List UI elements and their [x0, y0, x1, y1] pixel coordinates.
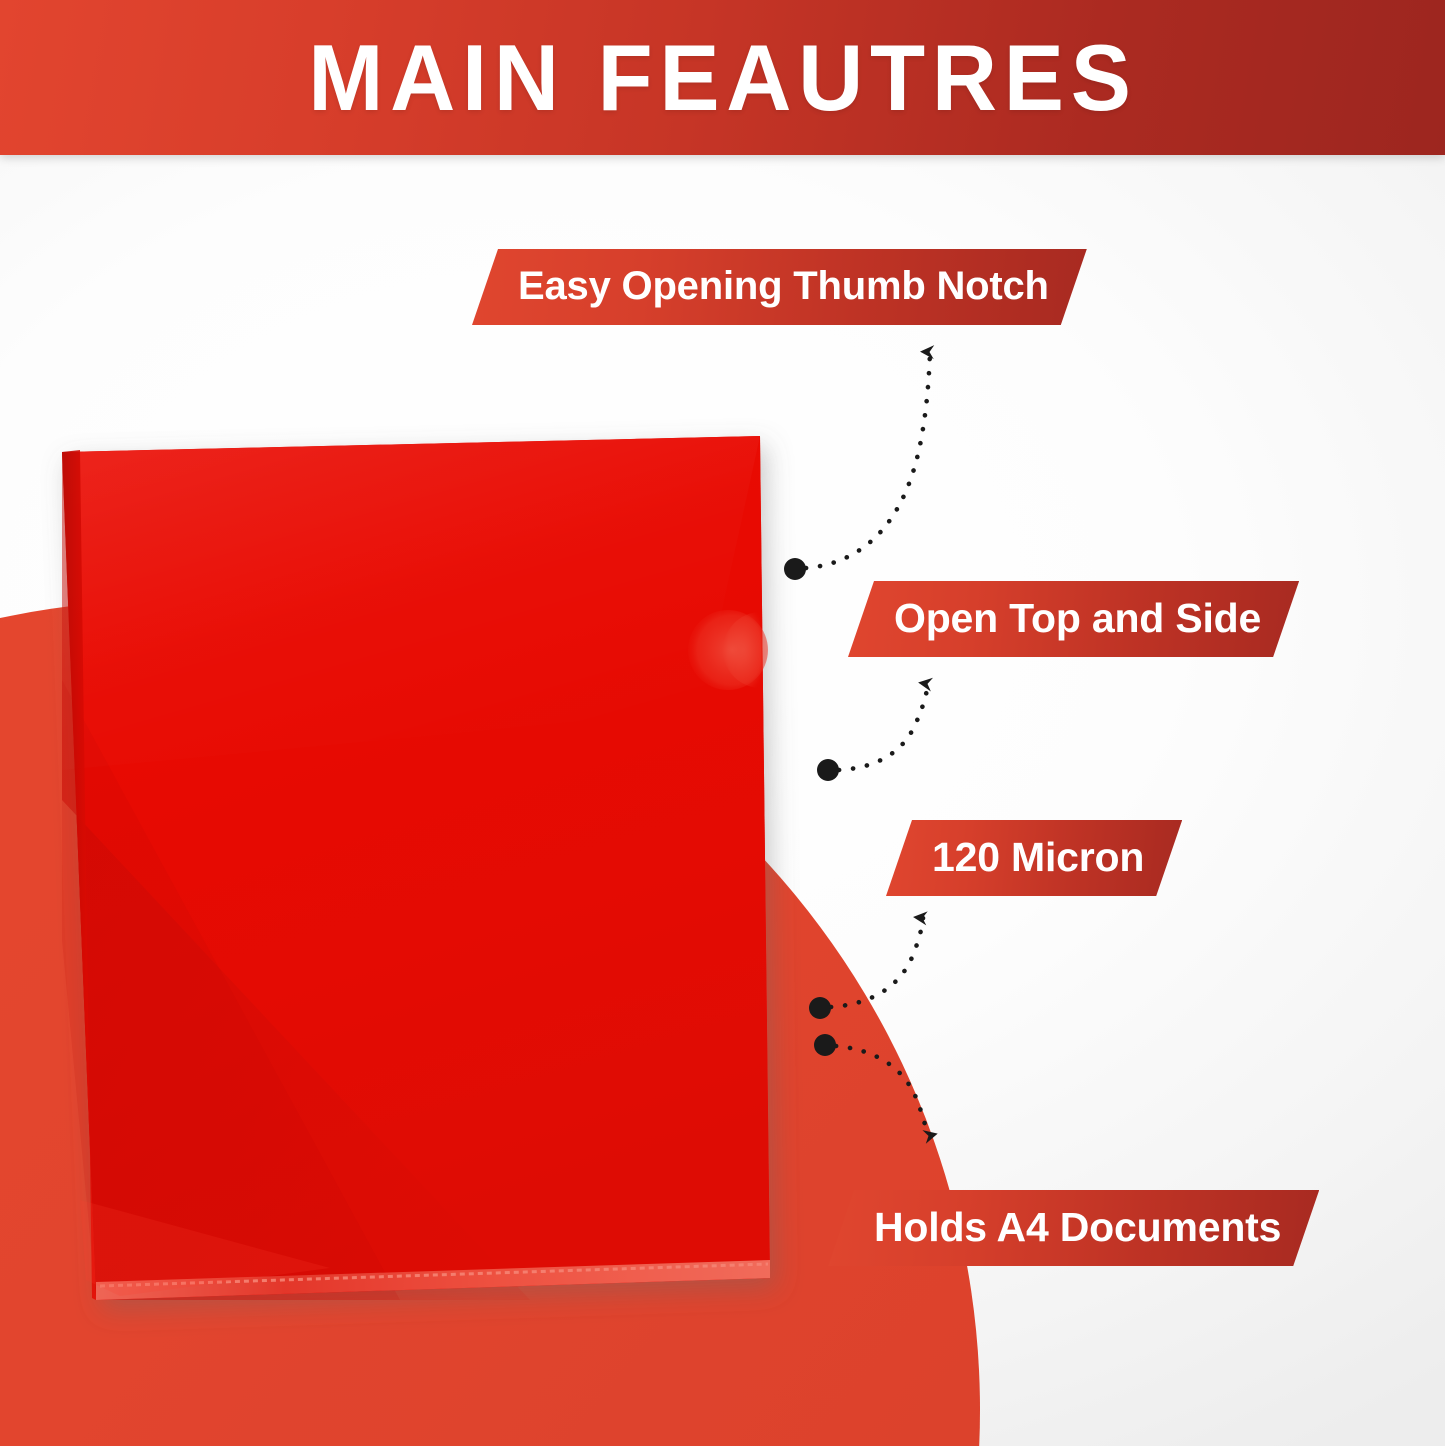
feature-banner-open-top-side[interactable]: Open Top and Side — [848, 581, 1299, 657]
feature-banner-thumb-notch[interactable]: Easy Opening Thumb Notch — [472, 249, 1087, 325]
feature-label: Holds A4 Documents — [874, 1207, 1281, 1248]
feature-label: Easy Opening Thumb Notch — [518, 266, 1049, 306]
infographic-canvas: MAIN FEAUTRES — [0, 0, 1445, 1446]
page-title: MAIN FEAUTRES — [308, 31, 1137, 125]
product-image — [0, 380, 860, 1360]
folder-thumb-notch-circle — [688, 610, 768, 690]
feature-banner-holds-a4[interactable]: Holds A4 Documents — [828, 1190, 1319, 1266]
feature-banner-micron[interactable]: 120 Micron — [886, 820, 1182, 896]
feature-label: 120 Micron — [932, 837, 1144, 878]
header-band: MAIN FEAUTRES — [0, 0, 1445, 155]
feature-label: Open Top and Side — [894, 598, 1261, 639]
